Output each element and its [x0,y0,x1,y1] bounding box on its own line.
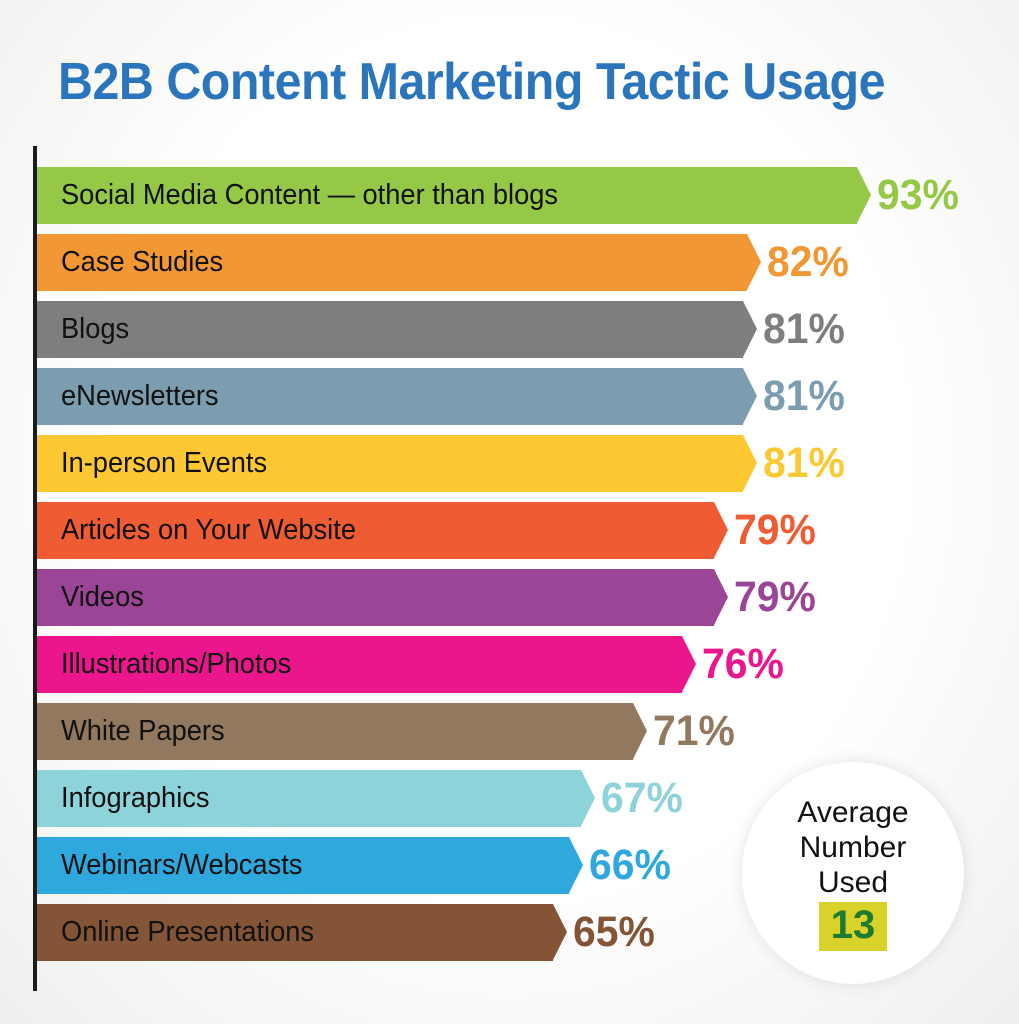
bar-shape: Case Studies [37,234,747,291]
bar-row: Videos79% [37,569,997,636]
bar-arrow-point [569,837,583,893]
bar-value-label: 66% [589,837,671,894]
bar-value-label: 81% [763,435,845,492]
bar-shape: Online Presentations [37,904,553,961]
bar-arrow-point [743,368,757,424]
bar-shape: Videos [37,569,714,626]
badge-number: 13 [831,903,876,947]
bar-shape: White Papers [37,703,633,760]
bar-value-label: 71% [653,703,735,760]
bar-category-label: Case Studies [61,234,223,291]
bar-row: Blogs81% [37,301,997,368]
bar-arrow-point [714,502,728,558]
average-number-badge: Average Number Used 13 [742,762,964,984]
bar-shape: Social Media Content — other than blogs [37,167,857,224]
bar-category-label: Videos [61,569,144,626]
bar-shape: Blogs [37,301,743,358]
bar-value-label: 67% [601,770,683,827]
bar-arrow-point [747,234,761,290]
bar-arrow-point [743,301,757,357]
bar-category-label: White Papers [61,703,225,760]
bar-value-label: 81% [763,368,845,425]
bar-value-label: 76% [702,636,784,693]
bar-arrow-point [743,435,757,491]
bar-arrow-point [714,569,728,625]
bar-fill [37,301,743,358]
badge-line-3: Used [818,865,888,900]
badge-number-highlight: 13 [819,902,888,951]
bar-category-label: Webinars/Webcasts [61,837,302,894]
bar-category-label: Articles on Your Website [61,502,356,559]
bar-shape: Infographics [37,770,581,827]
badge-line-2: Number [800,830,907,865]
bar-arrow-point [633,703,647,759]
bar-value-label: 79% [734,569,816,626]
bar-category-label: Social Media Content — other than blogs [61,167,558,224]
bar-arrow-point [553,904,567,960]
bar-arrow-point [857,167,871,223]
bar-value-label: 79% [734,502,816,559]
bar-shape: eNewsletters [37,368,743,425]
bar-row: Case Studies82% [37,234,997,301]
bar-shape: Articles on Your Website [37,502,714,559]
bar-row: Social Media Content — other than blogs9… [37,167,997,234]
bar-row: White Papers71% [37,703,997,770]
bar-row: Articles on Your Website79% [37,502,997,569]
bar-category-label: Blogs [61,301,129,358]
bar-arrow-point [581,770,595,826]
bar-arrow-point [682,636,696,692]
bar-value-label: 82% [767,234,849,291]
badge-line-1: Average [797,795,908,830]
infographic-canvas: B2B Content Marketing Tactic Usage Socia… [0,0,1019,1024]
bar-category-label: Infographics [61,770,210,827]
bar-value-label: 81% [763,301,845,358]
bar-category-label: Online Presentations [61,904,314,961]
bar-shape: In-person Events [37,435,743,492]
bar-category-label: In-person Events [61,435,267,492]
bar-category-label: Illustrations/Photos [61,636,291,693]
bar-row: In-person Events81% [37,435,997,502]
bar-row: Illustrations/Photos76% [37,636,997,703]
bar-shape: Illustrations/Photos [37,636,682,693]
bar-shape: Webinars/Webcasts [37,837,569,894]
bar-value-label: 93% [877,167,959,224]
bar-value-label: 65% [573,904,655,961]
bar-row: eNewsletters81% [37,368,997,435]
bar-category-label: eNewsletters [61,368,219,425]
